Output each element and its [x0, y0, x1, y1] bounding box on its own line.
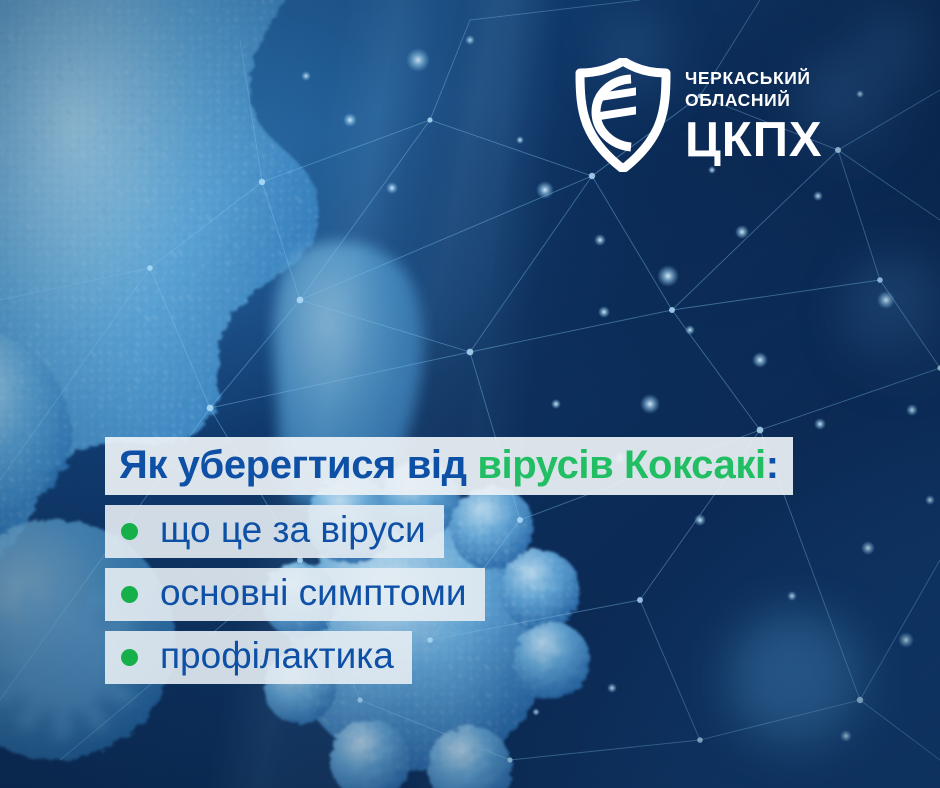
logo-line-2: ОБЛАСНИЙ [685, 92, 823, 110]
logo-abbreviation: ЦКПХ [685, 116, 823, 165]
green-dot-icon [121, 523, 138, 540]
list-item: профілактика [105, 631, 412, 684]
list-item-label: профілактика [160, 637, 394, 676]
green-dot-icon [121, 649, 138, 666]
bullet-row: що це за віруси [105, 495, 793, 558]
headline-part-1: Як уберегтися від [119, 443, 477, 487]
logo-line-1: ЧЕРКАСЬКИЙ [685, 70, 823, 88]
shield-logo-icon [575, 58, 671, 172]
poster-canvas: ЧЕРКАСЬКИЙ ОБЛАСНИЙ ЦКПХ Як уберегтися в… [0, 0, 940, 788]
bullet-row: основні симптоми [105, 558, 793, 621]
headline-part-2: : [766, 443, 779, 487]
list-item: що це за віруси [105, 505, 444, 558]
headline-row: Як уберегтися від вірусів Коксакі: [105, 437, 793, 495]
headline-band: Як уберегтися від вірусів Коксакі: [105, 437, 793, 495]
list-item: основні симптоми [105, 568, 485, 621]
bullet-row: профілактика [105, 621, 793, 684]
organization-logo: ЧЕРКАСЬКИЙ ОБЛАСНИЙ ЦКПХ [575, 58, 823, 172]
list-item-label: основні симптоми [160, 574, 467, 613]
headline-highlight: вірусів Коксакі [477, 443, 765, 487]
content-block: Як уберегтися від вірусів Коксакі: що це… [105, 437, 793, 684]
list-item-label: що це за віруси [160, 511, 426, 550]
green-dot-icon [121, 586, 138, 603]
